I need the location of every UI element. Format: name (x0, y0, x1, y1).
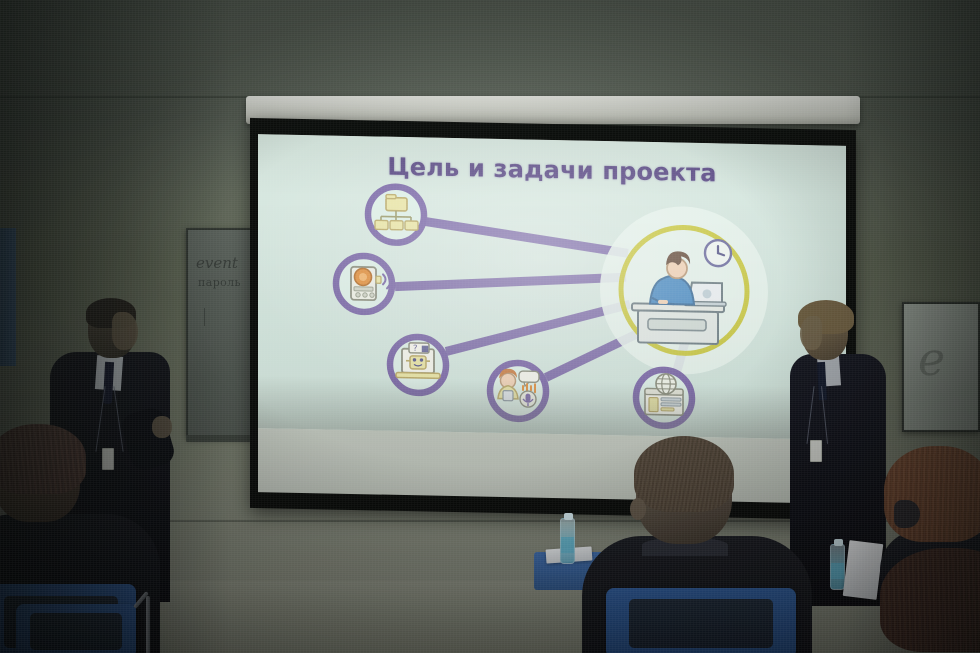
bottle-label-center (561, 537, 574, 553)
presenter-right-badge (810, 440, 822, 462)
bottle-cap-center (564, 513, 573, 520)
left-shadow-gradient (0, 0, 230, 653)
svg-text:?: ? (413, 344, 418, 354)
right-shadow-gradient (830, 0, 980, 653)
node-broadcast-device (336, 255, 392, 312)
audience-center-ear (630, 498, 646, 520)
chair-center (606, 588, 796, 653)
hub-node (600, 205, 768, 376)
node-folder-hierarchy (368, 186, 424, 243)
chair-center-backrest (629, 599, 773, 648)
spoke-to-node-1 (424, 221, 628, 253)
projected-slide: Цель и задачи проекта (258, 134, 846, 439)
clock-icon (705, 240, 731, 266)
water-bottle-center (560, 518, 575, 564)
audience-center-hair (634, 436, 734, 512)
svg-text:■: ■ (421, 344, 429, 354)
spoke-to-node-2 (395, 273, 626, 292)
presenter-right-face (800, 316, 822, 350)
projection-shadow-band (258, 375, 846, 440)
presentation-room-photo: event пароль e Цель и задачи проекта (0, 0, 980, 653)
